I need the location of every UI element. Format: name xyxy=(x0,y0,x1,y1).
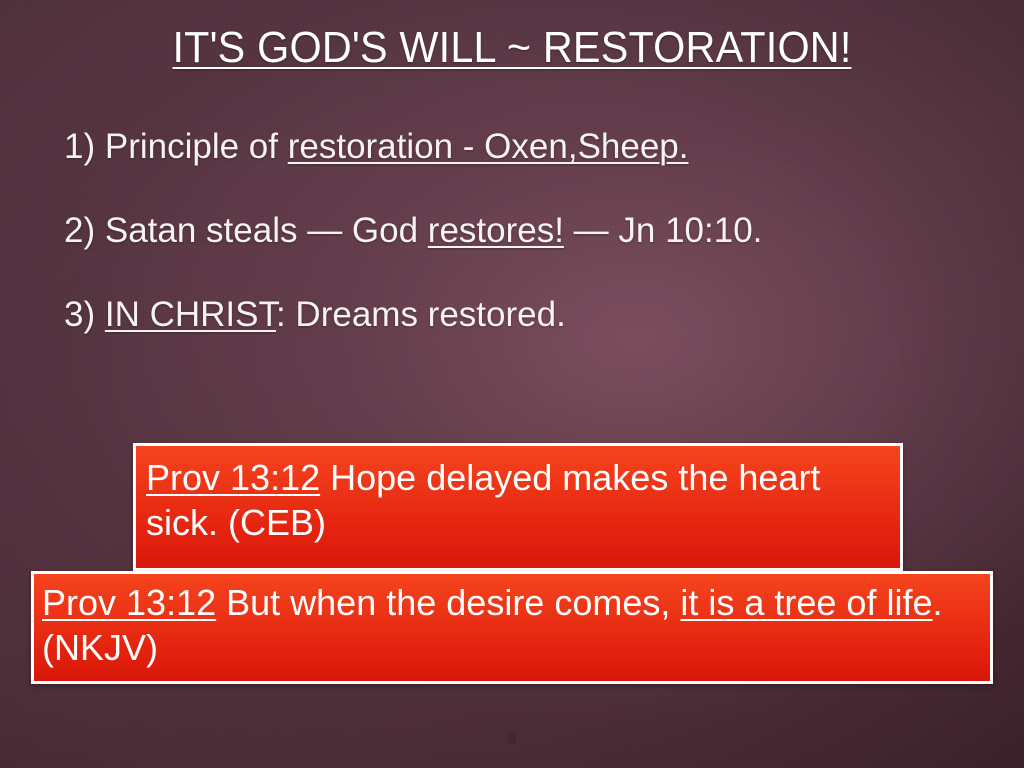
page-title-text: IT'S GOD'S WILL ~ RESTORATION! xyxy=(172,23,851,72)
scripture-quote-part1: But when the desire comes, xyxy=(216,582,680,623)
scripture-reference: Prov 13:12 xyxy=(146,457,320,498)
list-item: 3) IN CHRIST: Dreams restored. xyxy=(64,296,994,333)
list-item-text-underlined: IN CHRIST xyxy=(105,295,276,334)
page-title: IT'S GOD'S WILL ~ RESTORATION! xyxy=(31,24,994,72)
list-item-text-after: — Jn 10:10. xyxy=(564,211,762,250)
list-item-number: 1) xyxy=(64,127,95,166)
list-item-text-after: : Dreams restored. xyxy=(276,295,566,334)
scripture-quote-emphasis: it is a tree of life xyxy=(680,582,932,623)
list-item-text-before xyxy=(95,295,105,334)
body-list: 1) Principle of restoration - Oxen,Sheep… xyxy=(64,128,994,380)
list-item: 1) Principle of restoration - Oxen,Sheep… xyxy=(64,128,994,165)
list-item-number: 3) xyxy=(64,295,95,334)
scripture-box-nkjv: Prov 13:12 But when the desire comes, it… xyxy=(31,571,993,684)
list-item: 2) Satan steals — God restores! — Jn 10:… xyxy=(64,212,994,249)
scripture-box-ceb: Prov 13:12 Hope delayed makes the heart … xyxy=(133,443,903,571)
page-number: 8 xyxy=(0,730,1024,746)
list-item-text-underlined: restoration - Oxen,Sheep. xyxy=(288,127,689,166)
list-item-text-before: Principle of xyxy=(95,127,288,166)
list-item-text-underlined: restores! xyxy=(428,211,564,250)
list-item-number: 2) xyxy=(64,211,95,250)
presentation-slide: IT'S GOD'S WILL ~ RESTORATION! 1) Princi… xyxy=(0,0,1024,768)
scripture-reference: Prov 13:12 xyxy=(42,582,216,623)
list-item-text-before: Satan steals — God xyxy=(95,211,428,250)
